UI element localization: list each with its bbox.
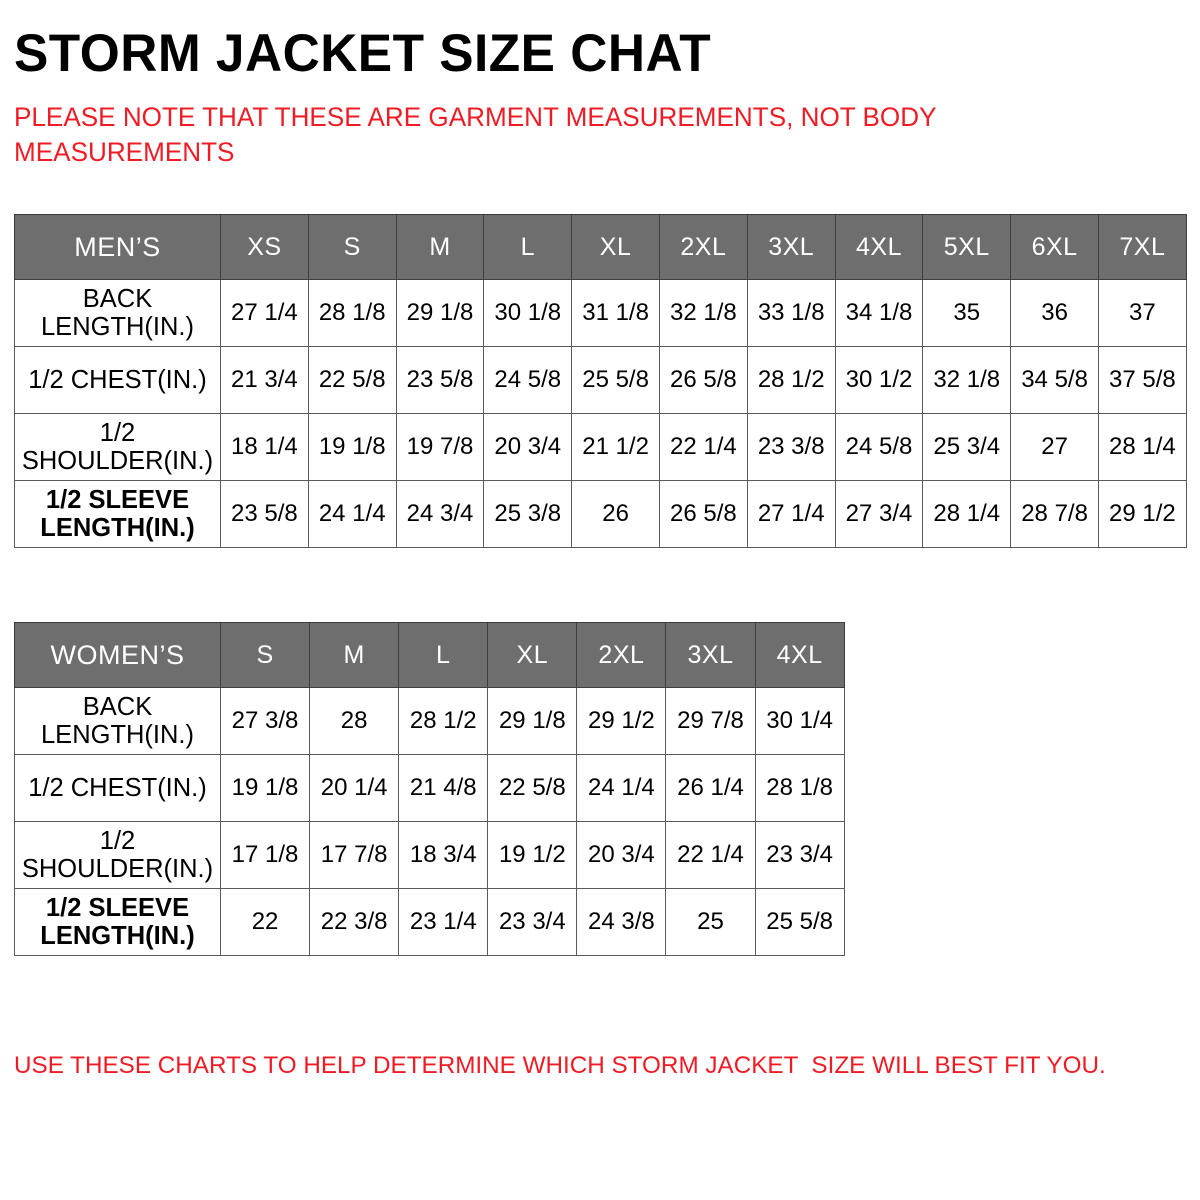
measurement-cell: 28 1/2 (747, 347, 835, 414)
measurement-cell: 20 3/4 (577, 822, 666, 889)
measurement-cell: 21 3/4 (221, 347, 309, 414)
measurement-cell: 33 1/8 (747, 280, 835, 347)
measurement-cell: 26 (572, 481, 660, 548)
use-charts-note: USE THESE CHARTS TO HELP DETERMINE WHICH… (14, 956, 1174, 1080)
womens-header-label: WOMEN’S (15, 623, 221, 688)
measurement-cell: 21 1/2 (572, 414, 660, 481)
size-header-m: M (396, 215, 484, 280)
measurement-cell: 31 1/8 (572, 280, 660, 347)
measurement-cell: 17 1/8 (221, 822, 310, 889)
measurement-cell: 27 (1011, 414, 1099, 481)
measurement-cell: 30 1/2 (835, 347, 923, 414)
measurement-cell: 32 1/8 (659, 280, 747, 347)
measurement-cell: 28 7/8 (1011, 481, 1099, 548)
size-header-l: L (399, 623, 488, 688)
measurement-cell: 17 7/8 (310, 822, 399, 889)
row-label: BACK LENGTH(IN.) (15, 688, 221, 755)
measurement-cell: 22 5/8 (488, 755, 577, 822)
measurement-cell: 29 1/8 (488, 688, 577, 755)
row-label: 1/2 SLEEVE LENGTH(IN.) (15, 889, 221, 956)
measurement-cell: 29 1/2 (1098, 481, 1186, 548)
table-row: 1/2 CHEST(IN.)19 1/820 1/421 4/822 5/824… (15, 755, 845, 822)
size-header-xl: XL (488, 623, 577, 688)
measurement-cell: 29 1/8 (396, 280, 484, 347)
row-label: BACK LENGTH(IN.) (15, 280, 221, 347)
measurement-cell: 28 1/2 (399, 688, 488, 755)
measurement-cell: 36 (1011, 280, 1099, 347)
size-header-5xl: 5XL (923, 215, 1011, 280)
measurement-cell: 23 5/8 (396, 347, 484, 414)
womens-table-body: BACK LENGTH(IN.)27 3/82828 1/229 1/829 1… (15, 688, 845, 956)
mens-table-body: BACK LENGTH(IN.)27 1/428 1/829 1/830 1/8… (15, 280, 1187, 548)
measurement-cell: 27 1/4 (747, 481, 835, 548)
table-row: BACK LENGTH(IN.)27 3/82828 1/229 1/829 1… (15, 688, 845, 755)
measurement-cell: 24 1/4 (577, 755, 666, 822)
size-header-4xl: 4XL (755, 623, 844, 688)
measurement-cell: 22 3/8 (310, 889, 399, 956)
womens-table-header: WOMEN’SSMLXL2XL3XL4XL (15, 623, 845, 688)
table-row: 1/2 SLEEVE LENGTH(IN.)2222 3/823 1/423 3… (15, 889, 845, 956)
measurement-cell: 35 (923, 280, 1011, 347)
measurement-cell: 26 1/4 (666, 755, 755, 822)
row-label: 1/2 SLEEVE LENGTH(IN.) (15, 481, 221, 548)
measurement-cell: 30 1/8 (484, 280, 572, 347)
measurement-cell: 20 1/4 (310, 755, 399, 822)
measurement-cell: 37 (1098, 280, 1186, 347)
table-row: 1/2 SLEEVE LENGTH(IN.)23 5/824 1/424 3/4… (15, 481, 1187, 548)
size-header-xs: XS (221, 215, 309, 280)
table-row: 1/2 SHOULDER(IN.)18 1/419 1/819 7/820 3/… (15, 414, 1187, 481)
measurement-cell: 32 1/8 (923, 347, 1011, 414)
row-label: 1/2 SHOULDER(IN.) (15, 822, 221, 889)
measurement-cell: 20 3/4 (484, 414, 572, 481)
size-header-l: L (484, 215, 572, 280)
measurement-cell: 22 1/4 (666, 822, 755, 889)
measurement-cell: 18 1/4 (221, 414, 309, 481)
measurement-cell: 37 5/8 (1098, 347, 1186, 414)
size-header-s: S (221, 623, 310, 688)
table-row: 1/2 CHEST(IN.)21 3/422 5/823 5/824 5/825… (15, 347, 1187, 414)
row-label: 1/2 CHEST(IN.) (15, 755, 221, 822)
table-row: BACK LENGTH(IN.)27 1/428 1/829 1/830 1/8… (15, 280, 1187, 347)
size-chart-page: STORM JACKET SIZE CHAT PLEASE NOTE THAT … (0, 0, 1200, 1200)
measurement-cell: 28 1/4 (923, 481, 1011, 548)
womens-header-row: WOMEN’SSMLXL2XL3XL4XL (15, 623, 845, 688)
measurement-cell: 30 1/4 (755, 688, 844, 755)
measurement-cell: 27 3/4 (835, 481, 923, 548)
womens-size-table: WOMEN’SSMLXL2XL3XL4XL BACK LENGTH(IN.)27… (14, 622, 845, 956)
measurement-cell: 27 1/4 (221, 280, 309, 347)
measurement-cell: 23 1/4 (399, 889, 488, 956)
size-header-s: S (308, 215, 396, 280)
size-header-3xl: 3XL (666, 623, 755, 688)
garment-measurement-note: PLEASE NOTE THAT THESE ARE GARMENT MEASU… (14, 82, 960, 170)
measurement-cell: 19 7/8 (396, 414, 484, 481)
measurement-cell: 18 3/4 (399, 822, 488, 889)
measurement-cell: 25 3/4 (923, 414, 1011, 481)
measurement-cell: 26 5/8 (659, 481, 747, 548)
size-header-6xl: 6XL (1011, 215, 1099, 280)
measurement-cell: 29 7/8 (666, 688, 755, 755)
measurement-cell: 24 1/4 (308, 481, 396, 548)
measurement-cell: 28 1/8 (755, 755, 844, 822)
measurement-cell: 19 1/2 (488, 822, 577, 889)
measurement-cell: 24 5/8 (484, 347, 572, 414)
size-header-4xl: 4XL (835, 215, 923, 280)
measurement-cell: 25 3/8 (484, 481, 572, 548)
table-row: 1/2 SHOULDER(IN.)17 1/817 7/818 3/419 1/… (15, 822, 845, 889)
measurement-cell: 19 1/8 (308, 414, 396, 481)
measurement-cell: 22 (221, 889, 310, 956)
measurement-cell: 25 5/8 (755, 889, 844, 956)
measurement-cell: 19 1/8 (221, 755, 310, 822)
measurement-cell: 21 4/8 (399, 755, 488, 822)
measurement-cell: 23 3/4 (488, 889, 577, 956)
measurement-cell: 26 5/8 (659, 347, 747, 414)
size-header-3xl: 3XL (747, 215, 835, 280)
measurement-cell: 34 5/8 (1011, 347, 1099, 414)
measurement-cell: 23 3/4 (755, 822, 844, 889)
measurement-cell: 27 3/8 (221, 688, 310, 755)
mens-header-row: MEN’SXSSMLXL2XL3XL4XL5XL6XL7XL (15, 215, 1187, 280)
measurement-cell: 23 5/8 (221, 481, 309, 548)
measurement-cell: 28 (310, 688, 399, 755)
measurement-cell: 22 1/4 (659, 414, 747, 481)
measurement-cell: 22 5/8 (308, 347, 396, 414)
size-header-m: M (310, 623, 399, 688)
page-title: STORM JACKET SIZE CHAT (14, 0, 1151, 82)
measurement-cell: 23 3/8 (747, 414, 835, 481)
mens-size-table: MEN’SXSSMLXL2XL3XL4XL5XL6XL7XL BACK LENG… (14, 214, 1187, 548)
size-header-xl: XL (572, 215, 660, 280)
measurement-cell: 25 5/8 (572, 347, 660, 414)
mens-table-header: MEN’SXSSMLXL2XL3XL4XL5XL6XL7XL (15, 215, 1187, 280)
size-header-2xl: 2XL (577, 623, 666, 688)
row-label: 1/2 CHEST(IN.) (15, 347, 221, 414)
measurement-cell: 34 1/8 (835, 280, 923, 347)
measurement-cell: 28 1/4 (1098, 414, 1186, 481)
measurement-cell: 24 3/8 (577, 889, 666, 956)
row-label: 1/2 SHOULDER(IN.) (15, 414, 221, 481)
size-header-2xl: 2XL (659, 215, 747, 280)
measurement-cell: 24 3/4 (396, 481, 484, 548)
measurement-cell: 25 (666, 889, 755, 956)
measurement-cell: 28 1/8 (308, 280, 396, 347)
size-header-7xl: 7XL (1098, 215, 1186, 280)
measurement-cell: 24 5/8 (835, 414, 923, 481)
mens-header-label: MEN’S (15, 215, 221, 280)
measurement-cell: 29 1/2 (577, 688, 666, 755)
